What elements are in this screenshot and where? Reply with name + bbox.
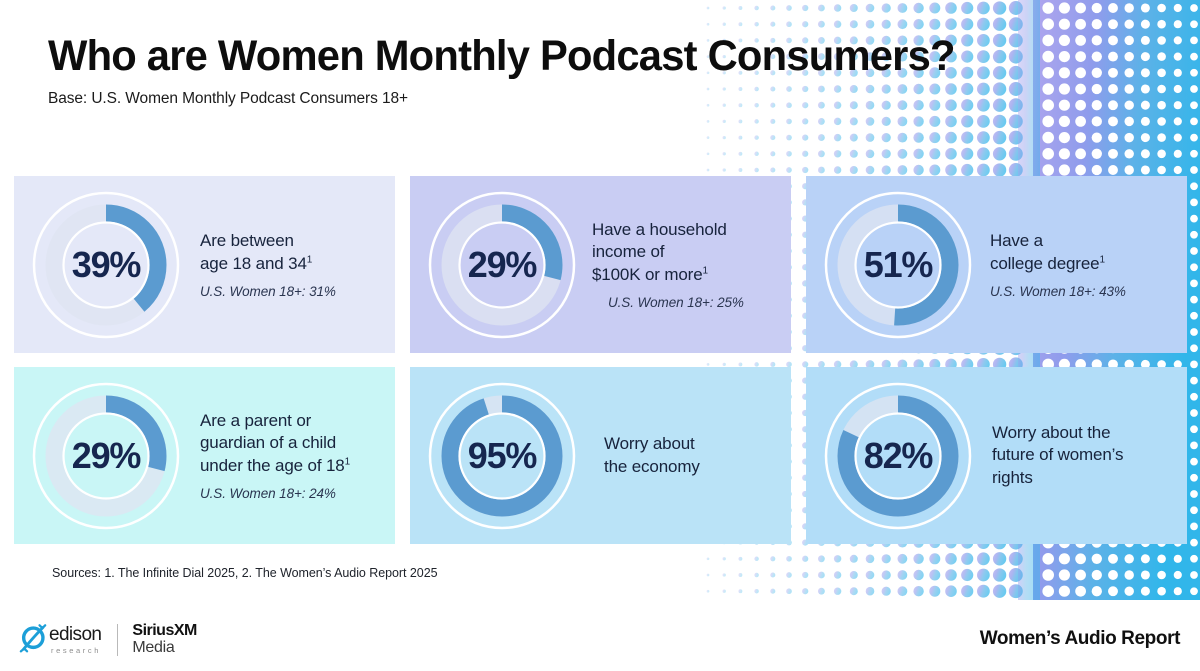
stat-card-1: 39%Are betweenage 18 and 341U.S. Women 1… — [14, 176, 395, 353]
footnote-marker-4: 1 — [345, 456, 350, 467]
report-title: Women’s Audio Report — [980, 628, 1180, 650]
edison-research-logo-icon — [18, 623, 52, 657]
stat-card-grid: 39%Are betweenage 18 and 341U.S. Women 1… — [14, 176, 1186, 544]
logo-divider — [117, 624, 118, 656]
stat-label-4: Are a parent orguardian of a childunder … — [200, 410, 385, 477]
donut-chart-1: 39% — [26, 185, 186, 345]
stat-card-2: 29%Have a householdincome of$100K or mor… — [410, 176, 791, 353]
donut-chart-2: 29% — [422, 185, 582, 345]
donut-chart-6: 82% — [818, 376, 978, 536]
header: Who are Women Monthly Podcast Consumers?… — [48, 34, 983, 108]
footnote-marker-3: 1 — [1099, 254, 1104, 265]
stat-card-3: 51%Have acollege degree1U.S. Women 18+: … — [806, 176, 1187, 353]
stat-text-6: Worry about thefuture of women’srights — [992, 422, 1187, 489]
page-subtitle: Base: U.S. Women Monthly Podcast Consume… — [48, 90, 983, 108]
donut-chart-3: 51% — [818, 185, 978, 345]
stat-text-2: Have a householdincome of$100K or more1U… — [592, 219, 791, 310]
stat-label-5: Worry aboutthe economy — [604, 433, 781, 478]
stat-card-5: 95%Worry aboutthe economy — [410, 367, 791, 544]
stat-comparison-2: U.S. Women 18+: 25% — [608, 295, 781, 310]
edison-wordmark: edison research — [49, 625, 101, 655]
stat-percent-5: 95% — [468, 438, 536, 474]
stat-percent-2: 29% — [468, 247, 536, 283]
stat-percent-6: 82% — [864, 438, 932, 474]
stat-comparison-3: U.S. Women 18+: 43% — [990, 284, 1177, 299]
siriusxm-media-label: Media — [132, 640, 196, 657]
stat-comparison-1: U.S. Women 18+: 31% — [200, 284, 385, 299]
footer-logos: edison research SiriusXM Media — [18, 620, 197, 660]
stat-text-3: Have acollege degree1U.S. Women 18+: 43% — [990, 230, 1187, 299]
stat-label-3: Have acollege degree1 — [990, 230, 1177, 275]
footnote-marker-2: 1 — [703, 265, 708, 276]
stat-label-6: Worry about thefuture of women’srights — [992, 422, 1177, 489]
stat-text-1: Are betweenage 18 and 341U.S. Women 18+:… — [200, 230, 395, 299]
stat-comparison-4: U.S. Women 18+: 24% — [200, 486, 385, 501]
stat-label-2: Have a householdincome of$100K or more1 — [592, 219, 781, 286]
stat-percent-3: 51% — [864, 247, 932, 283]
stat-percent-1: 39% — [72, 247, 140, 283]
stat-card-4: 29%Are a parent orguardian of a childund… — [14, 367, 395, 544]
sources-note: Sources: 1. The Infinite Dial 2025, 2. T… — [52, 566, 438, 580]
stat-card-6: 82%Worry about thefuture of women’sright… — [806, 367, 1187, 544]
stat-text-5: Worry aboutthe economy — [604, 433, 791, 478]
stat-percent-4: 29% — [72, 438, 140, 474]
page-title: Who are Women Monthly Podcast Consumers? — [48, 34, 955, 79]
stat-label-1: Are betweenage 18 and 341 — [200, 230, 385, 275]
donut-chart-5: 95% — [422, 376, 582, 536]
donut-chart-4: 29% — [26, 376, 186, 536]
footnote-marker-1: 1 — [307, 254, 312, 265]
stat-text-4: Are a parent orguardian of a childunder … — [200, 410, 395, 501]
siriusxm-media-logo: SiriusXM Media — [132, 623, 196, 657]
edison-name: edison — [49, 625, 101, 644]
edison-tagline: research — [51, 646, 101, 655]
siriusxm-name: SiriusXM — [132, 623, 196, 640]
